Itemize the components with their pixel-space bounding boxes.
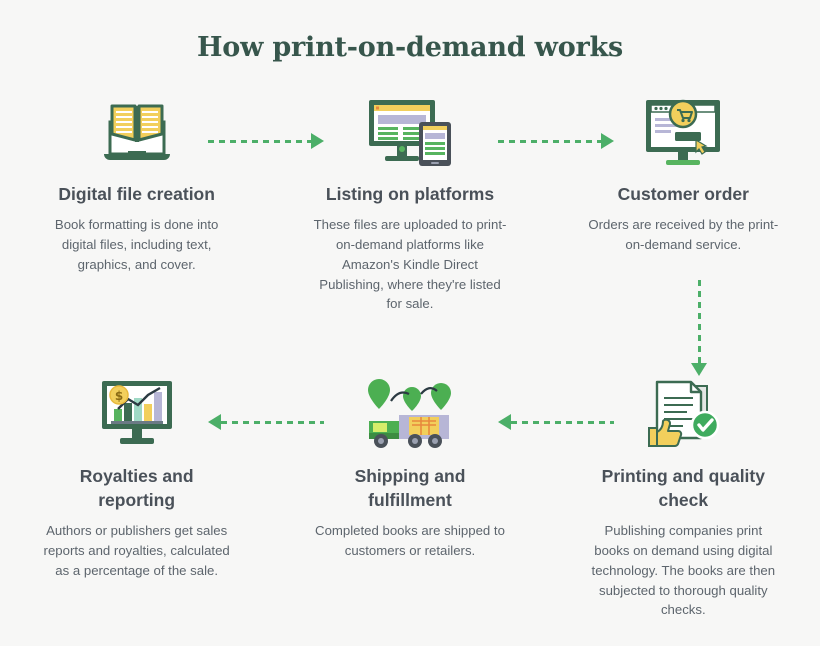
step-title: Digital file creation [58, 182, 215, 206]
arrow-step1-to-step2 [208, 134, 324, 148]
arrow-head-left-icon [208, 414, 221, 430]
step-card-digital-file-creation: Digital file creation Book formatting is… [0, 92, 273, 314]
document-thumbs-up-check-icon [643, 374, 723, 454]
step-card-printing-and-quality-check: Printing and quality check Publishing co… [547, 374, 820, 620]
step-description: Orders are received by the print-on-dema… [585, 215, 781, 255]
step-card-royalties-and-reporting: $ Royalties and reporting Authors or pub… [0, 374, 273, 620]
step-title: Customer order [618, 182, 749, 206]
arrow-head-left-icon [498, 414, 511, 430]
arrow-step2-to-step3 [498, 134, 614, 148]
page-title: How print-on-demand works [0, 32, 820, 63]
arrow-step3-to-step4 [692, 280, 706, 376]
step-card-listing-on-platforms: Listing on platforms These files are upl… [273, 92, 546, 314]
monitor-shopping-cart-order-icon [642, 92, 724, 172]
monitor-and-tablet-listing-icon [367, 92, 453, 172]
step-card-customer-order: Customer order Orders are received by th… [547, 92, 820, 314]
step-description: These files are uploaded to print-on-dem… [312, 215, 508, 314]
infographic-canvas: How print-on-demand works [0, 0, 820, 646]
monitor-sales-chart-coin-icon: $ [96, 374, 178, 454]
steps-grid-row-2: $ Royalties and reporting Authors or pub… [0, 374, 820, 620]
arrow-head-right-icon [311, 133, 324, 149]
arrow-step4-to-step5 [498, 415, 614, 429]
step-description: Book formatting is done into digital fil… [39, 215, 235, 274]
arrow-head-down-icon [691, 363, 707, 376]
svg-text:$: $ [114, 389, 122, 403]
arrow-step5-to-step6 [208, 415, 324, 429]
step-title: Listing on platforms [326, 182, 494, 206]
step-description: Authors or publishers get sales reports … [39, 521, 235, 580]
step-card-shipping-and-fulfillment: Shipping and fulfillment Completed books… [273, 374, 546, 620]
step-title: Shipping and fulfillment [320, 464, 500, 512]
delivery-truck-map-pins-icon [363, 374, 457, 454]
step-description: Publishing companies print books on dema… [585, 521, 781, 620]
step-title: Royalties and reporting [47, 464, 227, 512]
step-description: Completed books are shipped to customers… [312, 521, 508, 561]
arrow-head-right-icon [601, 133, 614, 149]
step-title: Printing and quality check [593, 464, 773, 512]
open-book-on-laptop-icon [98, 92, 176, 172]
